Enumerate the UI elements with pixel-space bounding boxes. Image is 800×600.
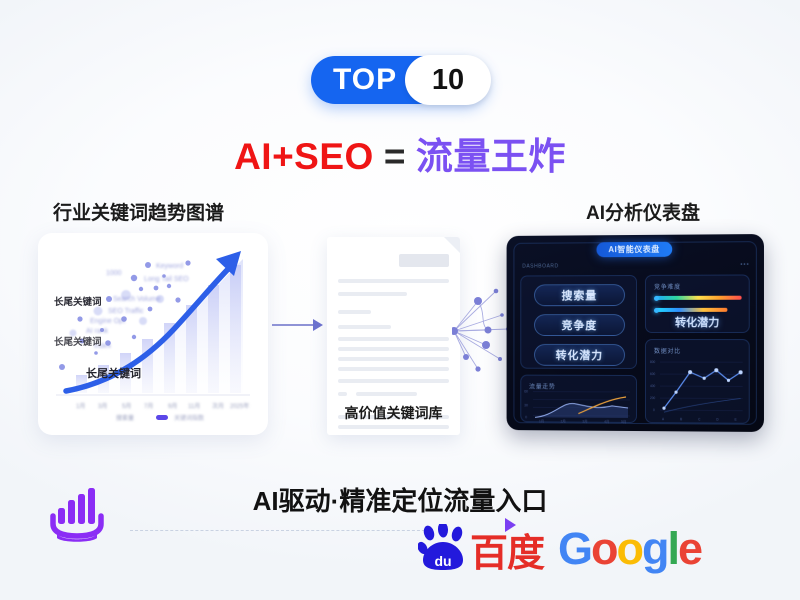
svg-text:400: 400 <box>650 384 656 388</box>
svg-text:关键词指数: 关键词指数 <box>174 414 204 422</box>
google-letter-o1: o <box>591 523 617 574</box>
metric-pills-panel: 搜索量 竞争度 转化潜力 <box>520 275 637 369</box>
svg-text:搜索量: 搜索量 <box>116 414 134 422</box>
bottom-tagline: AI驱动·精准定位流量入口 <box>0 481 800 518</box>
gauge-bar-competition <box>655 296 742 300</box>
headline-equals: = <box>384 136 406 177</box>
baidu-sub-text: du <box>434 553 451 569</box>
baidu-chinese-text: 百度 <box>470 536 544 572</box>
chart-annotation-2: 长尾关键词 <box>86 366 141 380</box>
document-fold-corner <box>444 237 460 253</box>
svg-text:AI rank: AI rank <box>86 328 109 335</box>
svg-text:2025年: 2025年 <box>230 402 249 410</box>
traffic-trend-chart: 60300 1月2月 3月4月5月 <box>521 376 638 424</box>
top-badge-number: 10 <box>405 55 491 105</box>
google-letter-g2: g <box>642 523 668 574</box>
svg-text:3月: 3月 <box>98 403 107 410</box>
svg-text:30: 30 <box>524 403 528 407</box>
svg-text:200: 200 <box>650 396 656 400</box>
chart-annotation-1: 长尾关键词 <box>54 336 102 348</box>
baidu-paw-icon: du <box>418 524 468 572</box>
divider-line <box>130 530 430 531</box>
dashboard-subtitle: DASHBOARD <box>522 263 558 269</box>
gauge-marker-0 <box>654 295 659 300</box>
ai-dashboard-panel: AI智能仪表盘 DASHBOARD ••• 搜索量 竞争度 转化潜力 流量走势 … <box>507 234 764 432</box>
svg-text:60: 60 <box>524 389 528 393</box>
svg-text:Long Tail SEO: Long Tail SEO <box>144 276 189 283</box>
svg-text:次月: 次月 <box>212 402 224 410</box>
gauge-panel-title: 竞争难度 <box>654 282 681 291</box>
data-comparison-chart: 800600 4002000 AB CDE <box>646 340 751 425</box>
svg-text:Search Volume: Search Volume <box>113 296 161 303</box>
node-network-graphic <box>452 285 510 377</box>
top-badge-label: TOP <box>333 65 397 95</box>
svg-text:9月: 9月 <box>168 403 177 410</box>
document-title: 高价值关键词库 <box>327 403 460 423</box>
svg-text:1000: 1000 <box>106 270 122 277</box>
metric-pill-search-volume[interactable]: 搜索量 <box>534 284 625 306</box>
page-title: AI+SEO=流量王炸 <box>0 126 800 180</box>
svg-text:E: E <box>735 418 737 422</box>
google-letter-g1: G <box>558 523 591 574</box>
google-letter-l: l <box>668 523 679 574</box>
svg-text:2月: 2月 <box>561 419 566 423</box>
google-letter-e: e <box>678 523 701 574</box>
section-label-right: AI分析仪表盘 <box>586 198 700 225</box>
svg-text:5月: 5月 <box>122 403 131 410</box>
baidu-logo: du 百度 <box>418 524 544 572</box>
data-comparison-panel: 数据对比 800600 4002000 AB <box>645 339 750 424</box>
svg-text:800: 800 <box>650 360 656 364</box>
svg-text:B: B <box>680 417 682 421</box>
svg-text:1月: 1月 <box>539 419 544 423</box>
document-header-block <box>399 254 449 267</box>
svg-text:0: 0 <box>653 408 655 412</box>
svg-text:1月: 1月 <box>76 403 85 410</box>
difficulty-gauge-panel: 竞争难度 转化潜力 <box>645 274 750 333</box>
google-logo: Google <box>558 526 701 571</box>
search-engine-logos: du 百度 Google <box>418 524 701 572</box>
keyword-trend-chart: Keyword Long Tail SEO Search Volume SEO … <box>38 233 268 435</box>
svg-text:3月: 3月 <box>582 420 587 424</box>
metric-pill-conversion[interactable]: 转化潜力 <box>534 344 625 366</box>
svg-text:SEO Traffic: SEO Traffic <box>108 308 144 315</box>
flow-arrow-icon <box>272 318 324 332</box>
svg-text:0: 0 <box>525 415 527 419</box>
top-rank-badge: TOP 10 <box>311 56 489 104</box>
google-letter-o2: o <box>617 523 643 574</box>
gauge-overlay-label: 转化潜力 <box>646 314 749 330</box>
section-label-left: 行业关键词趋势图谱 <box>53 198 224 225</box>
gauge-marker-1 <box>654 307 659 312</box>
headline-left: AI+SEO <box>234 136 374 177</box>
dashboard-title-badge: AI智能仪表盘 <box>596 242 671 257</box>
keyword-library-document: 高价值关键词库 <box>327 237 460 435</box>
play-triangle-icon <box>505 518 516 532</box>
bar-chart-trophy-icon <box>46 486 108 544</box>
svg-text:D: D <box>716 418 719 422</box>
svg-text:4月: 4月 <box>604 420 609 424</box>
svg-text:C: C <box>698 417 701 421</box>
headline-right: 流量王炸 <box>416 136 566 177</box>
svg-text:11月: 11月 <box>188 403 200 410</box>
gauge-bar-conversion <box>655 308 727 312</box>
dashboard-menu-icon[interactable]: ••• <box>740 262 749 268</box>
keyword-trend-card: Keyword Long Tail SEO Search Volume SEO … <box>38 233 268 435</box>
metric-pill-competition[interactable]: 竞争度 <box>534 314 625 336</box>
svg-text:7月: 7月 <box>144 403 153 410</box>
svg-text:600: 600 <box>650 372 656 376</box>
svg-text:5月: 5月 <box>621 420 626 424</box>
traffic-trend-panel: 流量走势 60300 1月2月 3月4月5月 <box>520 375 637 423</box>
poster-stage: TOP 10 AI+SEO=流量王炸 行业关键词趋势图谱 AI分析仪表盘 <box>0 0 800 600</box>
svg-text:Keyword: Keyword <box>156 263 183 270</box>
svg-text:Engine Opt: Engine Opt <box>90 318 125 325</box>
svg-text:A: A <box>662 417 665 421</box>
chart-annotation-0: 长尾关键词 <box>54 296 102 308</box>
